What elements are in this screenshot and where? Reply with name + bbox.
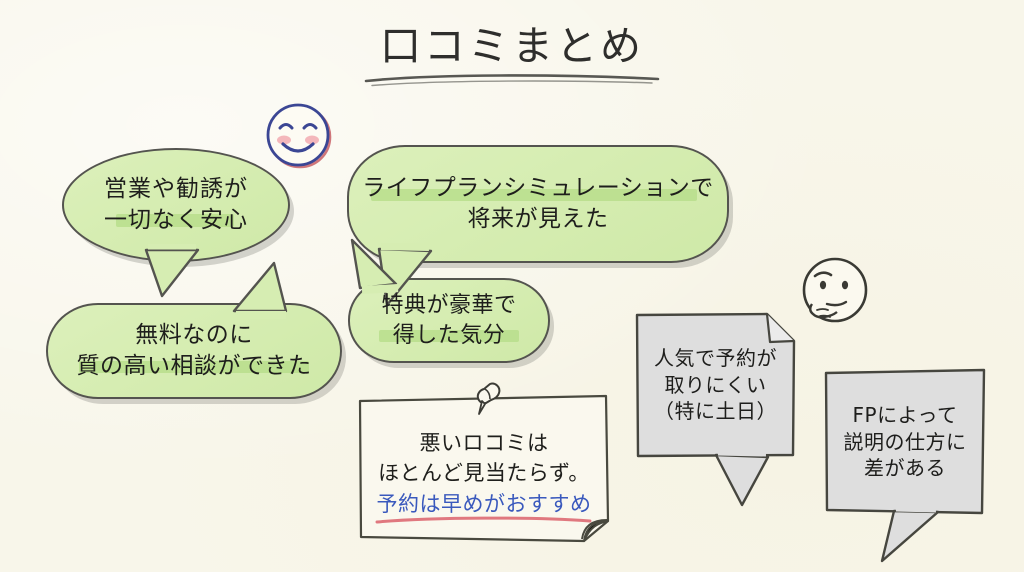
review-bubble-free-quality[interactable]: 無料なのに 質の高い相談ができた <box>46 303 342 399</box>
bubble-tail <box>338 238 408 298</box>
title-underline-decoration <box>362 72 662 90</box>
note-line-3-text: 予約は早めがおすすめ <box>377 492 592 516</box>
review-text: FPによって 説明の仕方に 差がある <box>844 402 967 482</box>
review-bubble-popular-booking[interactable]: 人気で予約が 取りにくい （特に土日） <box>634 311 797 459</box>
review-bubble-bonus[interactable]: 特典が豪華で 得した気分 <box>348 278 550 363</box>
bubble-content: 人気で予約が 取りにくい （特に土日） <box>634 311 797 459</box>
bubble-tail <box>140 244 210 300</box>
pushpin-icon <box>466 378 510 422</box>
review-bubble-fp-variance[interactable]: FPによって 説明の仕方に 差がある <box>822 367 988 517</box>
note-line-1: 悪いロコミは <box>420 427 549 457</box>
note-line-3-accent: 予約は早めがおすすめ <box>377 488 592 518</box>
review-summary-canvas: 口コミまとめ 営業や勧誘が 一切なく安心 <box>0 0 1024 572</box>
review-text: 特典が豪華で 得した気分 <box>381 291 516 350</box>
note-accent-underline <box>373 516 596 526</box>
thinking-face-icon <box>790 252 880 340</box>
review-bubble-sales-free[interactable]: 営業や勧誘が 一切なく安心 <box>62 148 290 262</box>
bubble-tail <box>216 259 296 319</box>
review-text: ライフプランシミュレーションで 将来が見えた <box>362 173 714 235</box>
review-text: 無料なのに 質の高い相談ができた <box>77 320 312 382</box>
review-text: 営業や勧誘が 一切なく安心 <box>104 174 248 236</box>
bubble-tail <box>712 449 780 511</box>
page-title: 口コミまとめ <box>0 24 1024 69</box>
bubble-content: FPによって 説明の仕方に 差がある <box>822 367 988 517</box>
bubble-tail <box>872 505 944 567</box>
title-block: 口コミまとめ <box>0 24 1024 69</box>
note-line-2: ほとんど見当たらず。 <box>378 457 590 487</box>
bubble-content: 無料なのに 質の高い相談ができた <box>46 303 342 399</box>
review-text: 人気で予約が 取りにくい （特に土日） <box>654 345 777 425</box>
